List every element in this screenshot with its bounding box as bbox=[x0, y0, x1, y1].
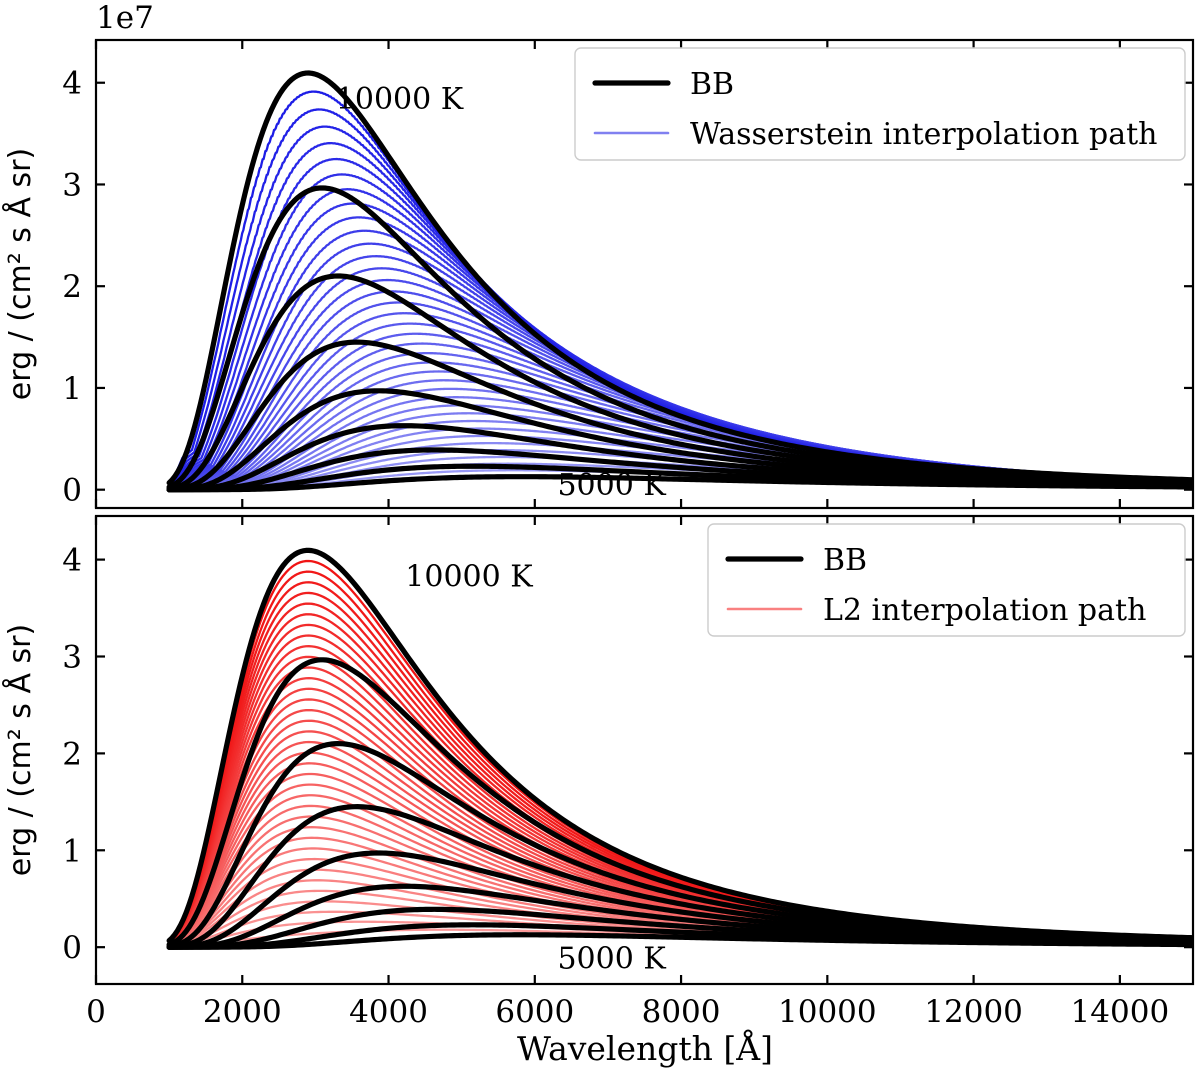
legend-label-bb-top: BB bbox=[690, 67, 734, 102]
y-tick-label: 0 bbox=[62, 473, 82, 509]
blackbody-interpolation-figure: 01234 1e7 erg / (cm² s Å sr) 10000 K 500… bbox=[0, 0, 1200, 1074]
y-tick-label: 3 bbox=[62, 167, 82, 203]
figure-container: 01234 1e7 erg / (cm² s Å sr) 10000 K 500… bbox=[0, 0, 1200, 1074]
x-tick-label: 12000 bbox=[924, 994, 1023, 1030]
x-tick-label: 2000 bbox=[203, 994, 282, 1030]
x-tick-label: 0 bbox=[86, 994, 106, 1030]
y-tick-label: 3 bbox=[62, 639, 82, 675]
legend-label-bb-bottom: BB bbox=[823, 543, 867, 578]
y-tick-label: 2 bbox=[62, 736, 82, 772]
annotation-10000k-bottom: 10000 K bbox=[405, 560, 533, 595]
y-axis-offset-label: 1e7 bbox=[96, 0, 154, 36]
y-axis-title-top: erg / (cm² s Å sr) bbox=[2, 148, 38, 400]
legend-wasserstein[interactable]: BB Wasserstein interpolation path bbox=[575, 48, 1185, 160]
x-tick-label: 14000 bbox=[1071, 994, 1170, 1030]
legend-l2[interactable]: BB L2 interpolation path bbox=[708, 524, 1185, 636]
y-tick-label: 2 bbox=[62, 269, 82, 305]
y-tick-label: 4 bbox=[62, 66, 82, 102]
legend-label-l2: L2 interpolation path bbox=[823, 593, 1146, 628]
y-tick-label: 0 bbox=[62, 930, 82, 966]
y-axis-title-bottom: erg / (cm² s Å sr) bbox=[2, 624, 38, 876]
x-tick-label: 8000 bbox=[642, 994, 721, 1030]
y-tick-label: 1 bbox=[62, 371, 82, 407]
x-tick-label: 6000 bbox=[495, 994, 574, 1030]
annotation-10000k-top: 10000 K bbox=[336, 82, 464, 117]
annotation-5000k-top: 5000 K bbox=[557, 468, 666, 503]
annotation-5000k-bottom: 5000 K bbox=[557, 942, 666, 977]
y-tick-label: 1 bbox=[62, 833, 82, 869]
y-tick-label: 4 bbox=[62, 543, 82, 579]
x-axis-title: Wavelength [Å] bbox=[517, 1028, 773, 1068]
legend-label-wasserstein: Wasserstein interpolation path bbox=[690, 117, 1158, 152]
x-tick-label: 4000 bbox=[349, 994, 428, 1030]
x-tick-label: 10000 bbox=[778, 994, 877, 1030]
